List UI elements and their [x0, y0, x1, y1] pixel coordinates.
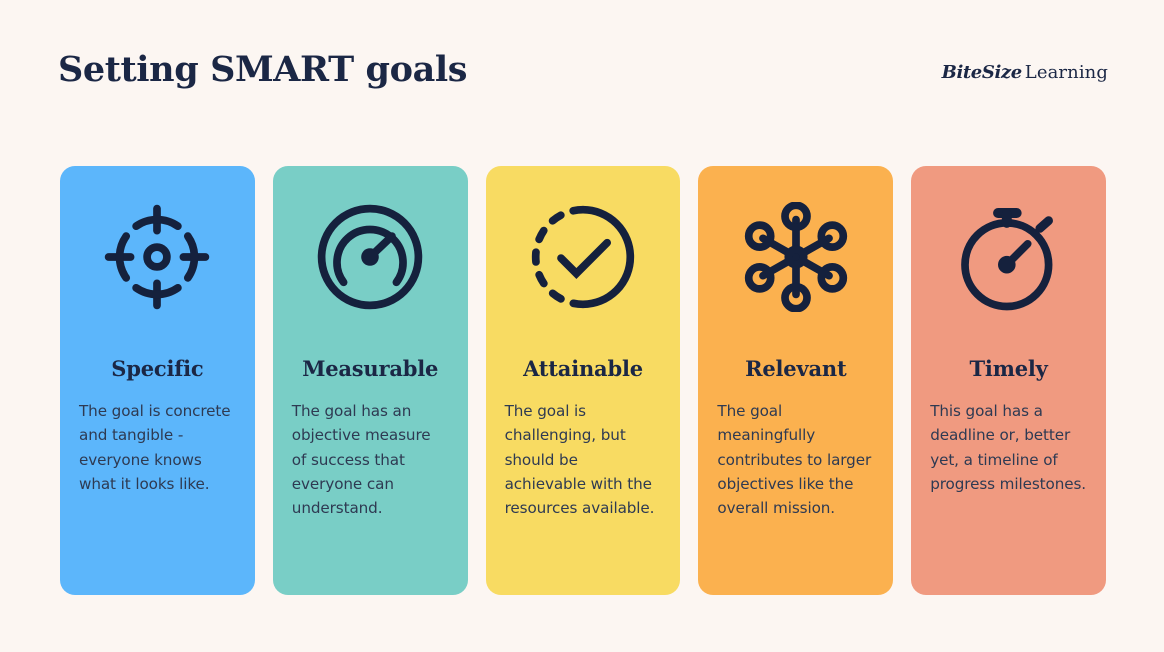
card-specific[interactable]: Specific The goal is concrete and tangib… — [60, 166, 255, 595]
card-body: The goal is concrete and tangible - ever… — [60, 399, 255, 496]
card-title: Timely — [911, 358, 1106, 379]
brand-logo: BiteSize Learning — [942, 62, 1108, 83]
header: Setting SMART goals BiteSize Learning — [0, 0, 1164, 140]
crosshair-target-icon — [102, 202, 212, 312]
card-measurable[interactable]: Measurable The goal has an objective mea… — [273, 166, 468, 595]
network-hub-icon — [741, 202, 851, 312]
card-relevant[interactable]: Relevant The goal meaningfully contribut… — [698, 166, 893, 595]
brand-logo-light: Learning — [1025, 62, 1108, 83]
card-body: The goal is challenging, but should be a… — [486, 399, 681, 520]
card-body: This goal has a deadline or, better yet,… — [911, 399, 1106, 496]
card-title: Attainable — [486, 358, 681, 379]
speedometer-gauge-icon — [315, 202, 425, 312]
stopwatch-icon — [954, 202, 1064, 312]
card-title: Specific — [60, 358, 255, 379]
brand-logo-bold: BiteSize — [942, 62, 1022, 83]
card-timely[interactable]: Timely This goal has a deadline or, bett… — [911, 166, 1106, 595]
card-body: The goal meaningfully contributes to lar… — [698, 399, 893, 520]
dashed-circle-check-icon — [528, 202, 638, 312]
smart-goal-cards: Specific The goal is concrete and tangib… — [60, 166, 1106, 595]
card-attainable[interactable]: Attainable The goal is challenging, but … — [486, 166, 681, 595]
card-body: The goal has an objective measure of suc… — [273, 399, 468, 520]
page-title: Setting SMART goals — [58, 49, 467, 90]
card-title: Relevant — [698, 358, 893, 379]
card-title: Measurable — [273, 358, 468, 379]
